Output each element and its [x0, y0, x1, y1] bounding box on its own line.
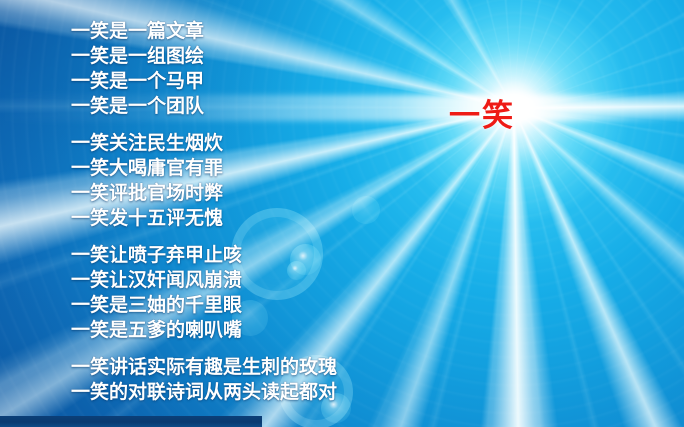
poem-line: 一笑评批官场时弊: [71, 181, 401, 206]
title-text: 一笑: [449, 99, 515, 133]
poem-stanza: 一笑让喷子弃甲止咳一笑让汉奸闻风崩溃一笑是三妯的千里眼一笑是五爹的喇叭嘴: [71, 243, 401, 343]
poem-line: 一笑是一组图绘: [71, 44, 401, 69]
poem-line: 一笑让汉奸闻风崩溃: [71, 268, 401, 293]
poem-stanza: 一笑关注民生烟炊一笑大喝庸官有罪一笑评批官场时弊一笑发十五评无愧: [71, 131, 401, 231]
poem-stanza: 一笑讲话实际有趣是生刺的玫瑰一笑的对联诗词从两头读起都对: [71, 355, 401, 405]
poem-text-block: 一笑是一篇文章一笑是一组图绘一笑是一个马甲一笑是一个团队一笑关注民生烟炊一笑大喝…: [71, 19, 401, 405]
poem-line: 一笑的对联诗词从两头读起都对: [71, 380, 401, 405]
poster-canvas: 一笑是一篇文章一笑是一组图绘一笑是一个马甲一笑是一个团队一笑关注民生烟炊一笑大喝…: [0, 0, 684, 427]
poem-line: 一笑大喝庸官有罪: [71, 156, 401, 181]
poem-line: 一笑关注民生烟炊: [71, 131, 401, 156]
poem-line: 一笑是一个马甲: [71, 69, 401, 94]
poem-line: 一笑是一个团队: [71, 94, 401, 119]
poem-line: 一笑是五爹的喇叭嘴: [71, 318, 401, 343]
poem-line: 一笑是一篇文章: [71, 19, 401, 44]
poem-stanza: 一笑是一篇文章一笑是一组图绘一笑是一个马甲一笑是一个团队: [71, 19, 401, 119]
poem-line: 一笑是三妯的千里眼: [71, 293, 401, 318]
bottom-dark-bar: [0, 416, 262, 427]
poem-line: 一笑讲话实际有趣是生刺的玫瑰: [71, 355, 401, 380]
poem-line: 一笑发十五评无愧: [71, 206, 401, 231]
poem-line: 一笑让喷子弃甲止咳: [71, 243, 401, 268]
